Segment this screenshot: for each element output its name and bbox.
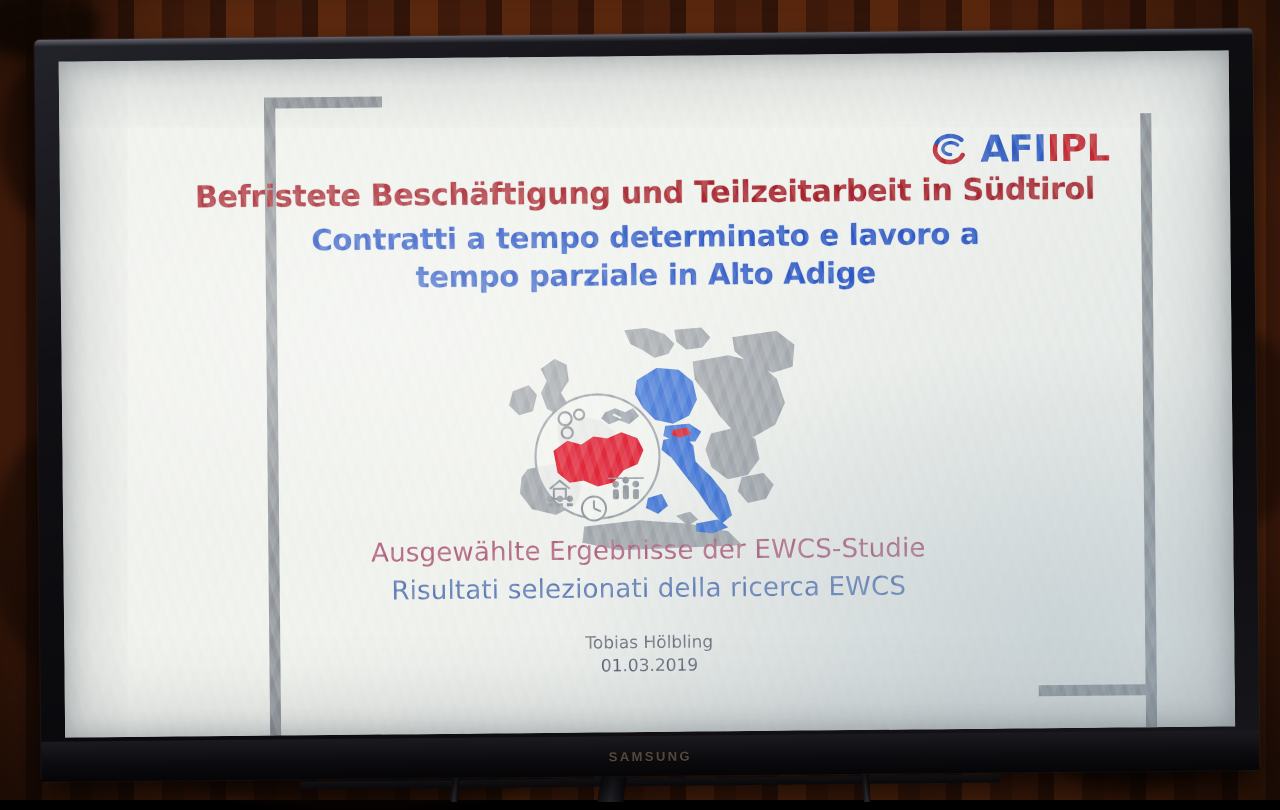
slide-title-german: Befristete Beschäftigung und Teilzeitarb… [60,173,1230,214]
title-block: Befristete Beschäftigung und Teilzeitarb… [60,173,1231,300]
afi-ipl-logo: AFIIPL [931,130,1110,169]
logo-text-ipl: IPL [1046,127,1109,171]
presentation-slide: AFIIPL Befristete Beschäftigung und Teil… [59,50,1235,737]
television: AFIIPL Befristete Beschäftigung und Teil… [34,28,1259,782]
logo-text-afi: AFI [980,127,1047,171]
logo-wordmark: AFIIPL [980,130,1110,168]
subtitle-german: Ausgewählte Ergebnisse der EWCS-Studie [63,530,1233,571]
europe-map-svg [496,327,798,555]
bracket-horizontal-bar [264,97,382,109]
bracket-horizontal-bar [1039,684,1157,696]
europe-map-graphic [496,327,798,555]
island-sardinia [646,494,668,514]
slide-title-italian: Contratti a tempo determinato e lavoro a… [60,213,1231,300]
subtitle-block: Ausgewählte Ergebnisse der EWCS-Studie R… [63,530,1234,609]
swirl-icon [931,131,971,167]
samsung-brand-logo: SAMSUNG [609,748,692,764]
tv-screen: AFIIPL Befristete Beschäftigung und Teil… [59,50,1235,737]
clock-icon [582,496,606,520]
